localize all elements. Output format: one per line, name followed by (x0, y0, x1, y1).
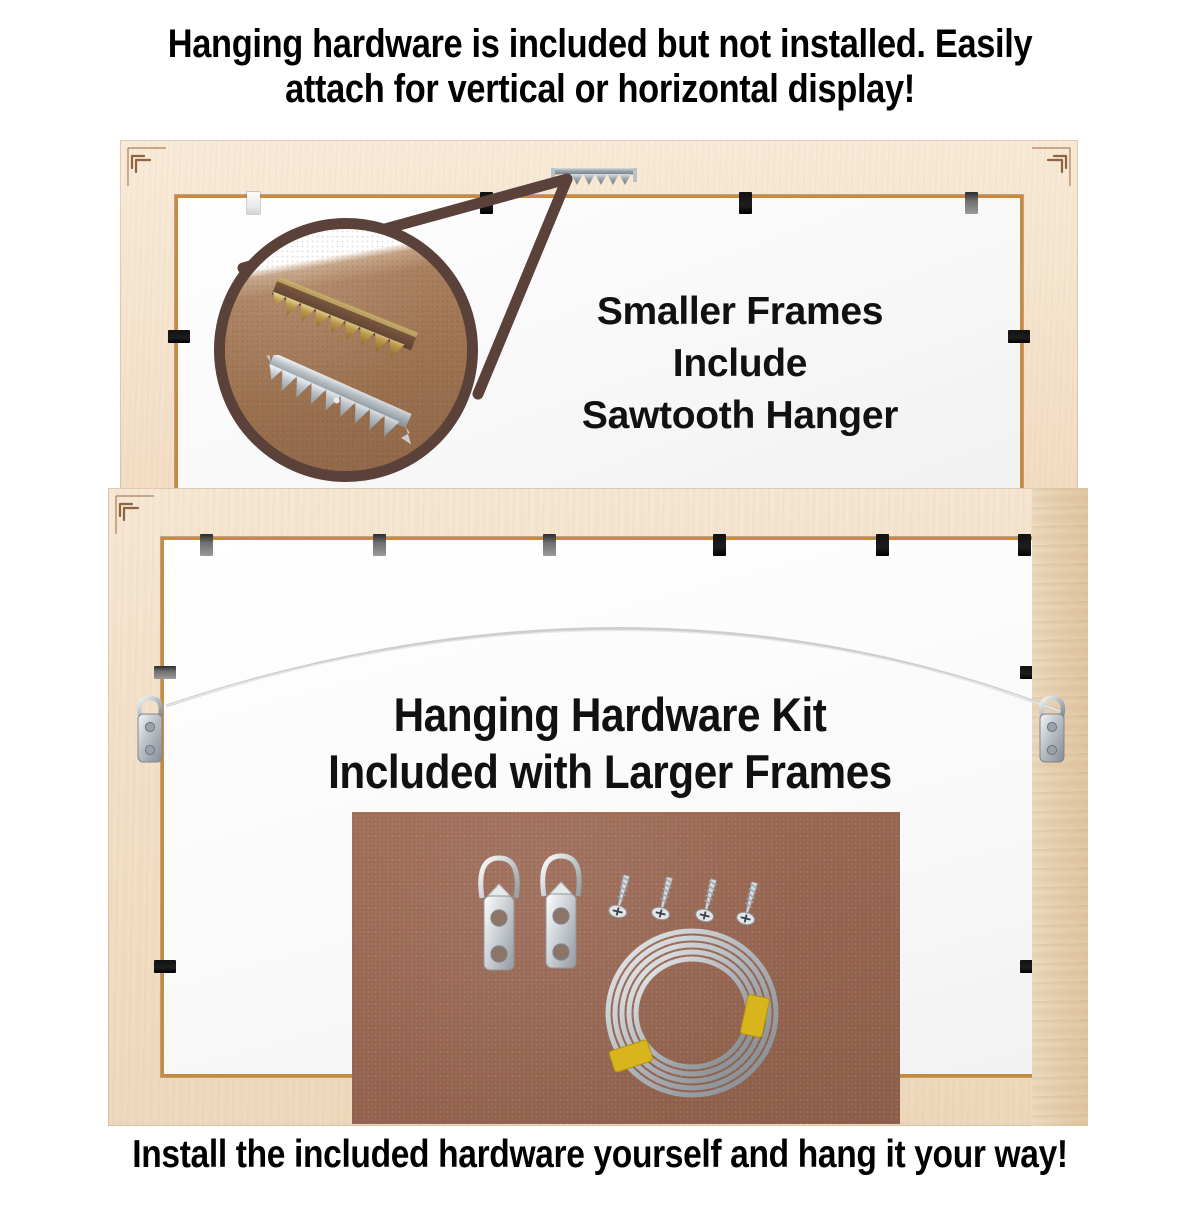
top-caption: Hanging hardware is included but not ins… (84, 22, 1116, 112)
retainer-clip (1018, 534, 1031, 556)
kit-mounting-screw (607, 867, 637, 922)
retainer-clip (1020, 666, 1042, 679)
hanging-hardware-kit-photo (352, 812, 900, 1124)
sawtooth-magnifier-circle (214, 218, 478, 482)
frame-corner-bracket-icon (1040, 494, 1082, 536)
retainer-clip (480, 192, 493, 214)
frame-corner-bracket-icon (126, 146, 168, 188)
retainer-clip (154, 960, 176, 973)
retainer-clip (876, 534, 889, 556)
retainer-clip (200, 534, 213, 556)
hanging-kit-callout-text: Hanging Hardware Kit Included with Large… (205, 686, 1015, 801)
retainer-clip (1020, 960, 1042, 973)
retainer-clip (543, 534, 556, 556)
d-ring-hanger-left (126, 694, 174, 773)
sawtooth-hanger (551, 168, 637, 187)
retainer-clip (168, 330, 190, 343)
kit-d-ring-hanger (524, 848, 598, 978)
retainer-clip (1008, 330, 1030, 343)
kit-mounting-screw (650, 869, 680, 924)
retainer-clip (154, 666, 176, 679)
d-ring-hanger-right (1028, 694, 1076, 773)
smaller-frames-callout-text: Smaller Frames Include Sawtooth Hanger (500, 286, 980, 442)
infographic-canvas: Hanging hardware is included but not ins… (0, 0, 1200, 1200)
sawtooth-hanger-silver (235, 355, 445, 475)
retainer-clip (739, 192, 752, 214)
retainer-clip (713, 534, 726, 556)
retainer-clip (965, 192, 978, 214)
frame-corner-bracket-icon (114, 494, 156, 536)
retainer-clip (373, 534, 386, 556)
frame-corner-bracket-icon (1030, 146, 1072, 188)
kit-coiled-hanging-wire (592, 918, 792, 1108)
bottom-caption: Install the included hardware yourself a… (84, 1133, 1116, 1177)
retainer-clip (247, 192, 260, 214)
